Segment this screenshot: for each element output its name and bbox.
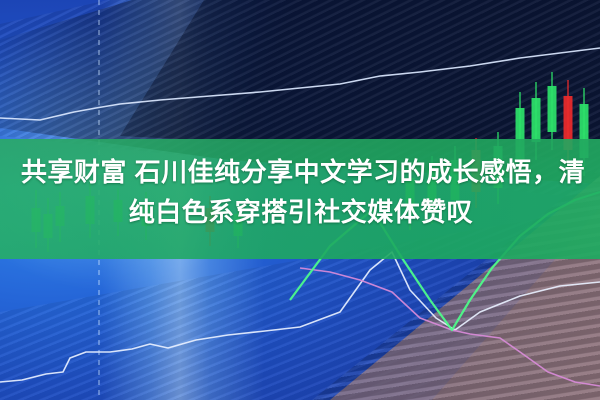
green-title-band-tint — [0, 139, 600, 259]
series-upper-white-trend — [0, 252, 600, 382]
stock-news-banner: 共享财富 石川佳纯分享中文学习的成长感悟，清 纯白色系穿搭引社交媒体赞叹 — [0, 0, 600, 400]
series-lower-white-trend — [0, 48, 600, 120]
